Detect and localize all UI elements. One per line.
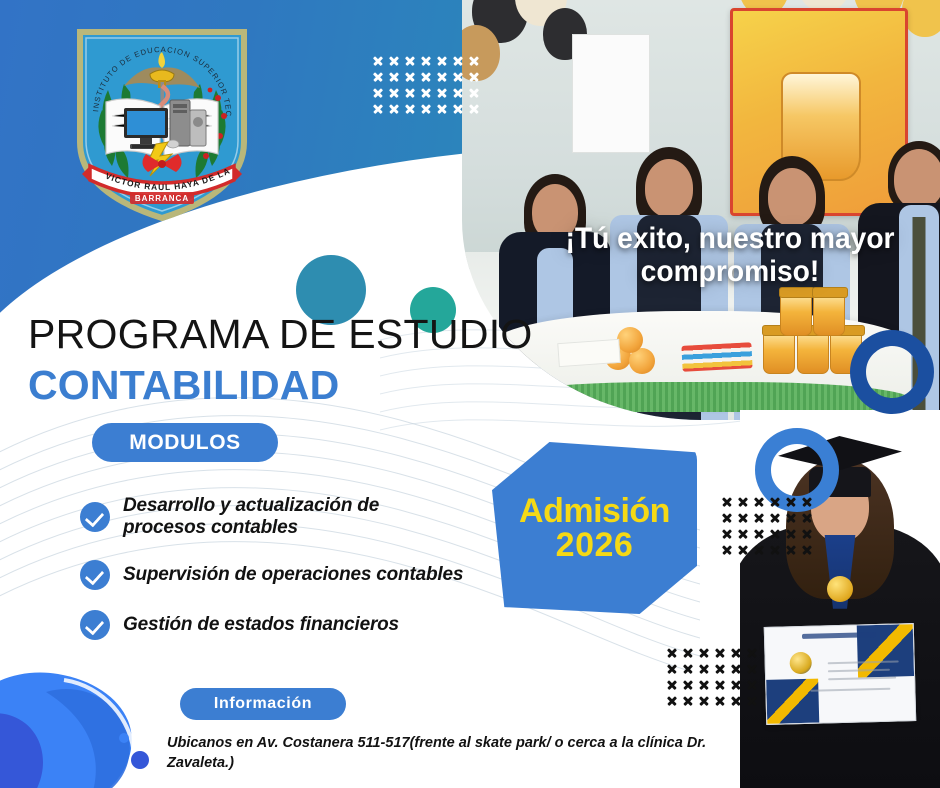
dot-x-icon	[469, 88, 479, 98]
modules-list: Desarrollo y actualización de procesos c…	[80, 495, 550, 660]
dot-x-icon	[699, 680, 709, 690]
dot-x-icon	[802, 529, 812, 539]
dot-x-icon	[715, 680, 725, 690]
dot-x-icon	[786, 529, 796, 539]
dot-pattern-top	[373, 56, 479, 114]
check-circle-icon	[80, 560, 110, 590]
dot-pattern-right	[722, 497, 812, 555]
dot-x-icon	[405, 72, 415, 82]
dot-x-icon	[747, 680, 757, 690]
dot-x-icon	[786, 497, 796, 507]
dot-x-icon	[731, 696, 741, 706]
dot-x-icon	[683, 696, 693, 706]
dot-x-icon	[405, 104, 415, 114]
dot-x-icon	[715, 664, 725, 674]
dot-pattern-bottom	[667, 648, 757, 706]
dot-x-icon	[747, 648, 757, 658]
dot-x-icon	[683, 664, 693, 674]
dot-x-icon	[770, 497, 780, 507]
page-title-line2: CONTABILIDAD	[28, 362, 339, 409]
admission-badge: Admisión 2026	[492, 442, 697, 614]
dot-x-icon	[770, 529, 780, 539]
list-item: Desarrollo y actualización de procesos c…	[80, 495, 550, 540]
dot-x-icon	[770, 545, 780, 555]
dot-x-icon	[373, 104, 383, 114]
dot-x-icon	[437, 104, 447, 114]
dot-x-icon	[747, 664, 757, 674]
dot-x-icon	[421, 56, 431, 66]
dot-x-icon	[731, 664, 741, 674]
admission-year: 2026	[519, 528, 670, 562]
dot-x-icon	[683, 680, 693, 690]
informacion-button[interactable]: Información	[180, 688, 346, 720]
check-circle-icon	[80, 610, 110, 640]
dot-x-icon	[667, 696, 677, 706]
modulos-badge: MODULOS	[92, 423, 278, 462]
dot-x-icon	[722, 497, 732, 507]
dot-x-icon	[738, 513, 748, 523]
blue-ring-upper	[850, 330, 934, 414]
dot-x-icon	[437, 88, 447, 98]
dot-x-icon	[699, 664, 709, 674]
dot-x-icon	[722, 513, 732, 523]
dot-x-icon	[389, 88, 399, 98]
dot-x-icon	[770, 513, 780, 523]
dot-x-icon	[373, 88, 383, 98]
dot-x-icon	[405, 88, 415, 98]
page-title-line1: PROGRAMA DE ESTUDIO	[28, 311, 533, 358]
dot-x-icon	[699, 648, 709, 658]
dot-x-icon	[405, 56, 415, 66]
dot-x-icon	[421, 72, 431, 82]
dot-x-icon	[389, 72, 399, 82]
module-label: Desarrollo y actualización de procesos c…	[123, 495, 453, 540]
diploma	[764, 624, 917, 726]
institution-crest-logo: INSTITUTO DE EDUCACION SUPERIOR TECNOLOG…	[72, 24, 252, 224]
dot-x-icon	[786, 545, 796, 555]
dot-x-icon	[802, 497, 812, 507]
dot-x-icon	[469, 72, 479, 82]
module-label: Gestión de estados financieros	[123, 614, 399, 636]
dot-x-icon	[453, 88, 463, 98]
dot-x-icon	[738, 497, 748, 507]
dot-x-icon	[715, 648, 725, 658]
dot-x-icon	[421, 88, 431, 98]
dot-x-icon	[722, 545, 732, 555]
list-item: Supervisión de operaciones contables	[80, 560, 550, 590]
poster-canvas: ¡Tú exito, nuestro mayor compromiso! ¡Tú…	[0, 0, 940, 788]
dot-x-icon	[437, 72, 447, 82]
dot-x-icon	[683, 648, 693, 658]
dot-x-icon	[453, 104, 463, 114]
dot-x-icon	[722, 529, 732, 539]
address-text: Ubicanos en Av. Costanera 511-517(frente…	[167, 734, 712, 773]
dot-x-icon	[786, 513, 796, 523]
dot-x-icon	[453, 72, 463, 82]
dot-x-icon	[469, 56, 479, 66]
dot-x-icon	[373, 72, 383, 82]
dot-x-icon	[667, 680, 677, 690]
dot-x-icon	[738, 545, 748, 555]
dot-x-icon	[389, 56, 399, 66]
tagline-overlay: ¡Tú exito, nuestro mayor compromiso!	[551, 222, 908, 288]
dot-x-icon	[802, 513, 812, 523]
check-circle-icon	[80, 502, 110, 532]
dot-x-icon	[731, 648, 741, 658]
dot-x-icon	[802, 545, 812, 555]
list-item: Gestión de estados financieros	[80, 610, 550, 640]
dot-x-icon	[754, 545, 764, 555]
dot-x-icon	[699, 696, 709, 706]
dot-x-icon	[754, 497, 764, 507]
dot-x-icon	[747, 696, 757, 706]
dot-x-icon	[667, 648, 677, 658]
dot-x-icon	[754, 513, 764, 523]
dot-x-icon	[421, 104, 431, 114]
dot-x-icon	[373, 56, 383, 66]
dot-x-icon	[389, 104, 399, 114]
module-label: Supervisión de operaciones contables	[123, 564, 463, 586]
dot-x-icon	[754, 529, 764, 539]
dot-x-icon	[738, 529, 748, 539]
dot-x-icon	[453, 56, 463, 66]
dot-x-icon	[437, 56, 447, 66]
crest-footer-text: BARRANCA	[135, 194, 189, 203]
dot-x-icon	[469, 104, 479, 114]
dot-x-icon	[731, 680, 741, 690]
dot-x-icon	[715, 696, 725, 706]
dot-x-icon	[667, 664, 677, 674]
admission-label: Admisión	[519, 494, 670, 528]
